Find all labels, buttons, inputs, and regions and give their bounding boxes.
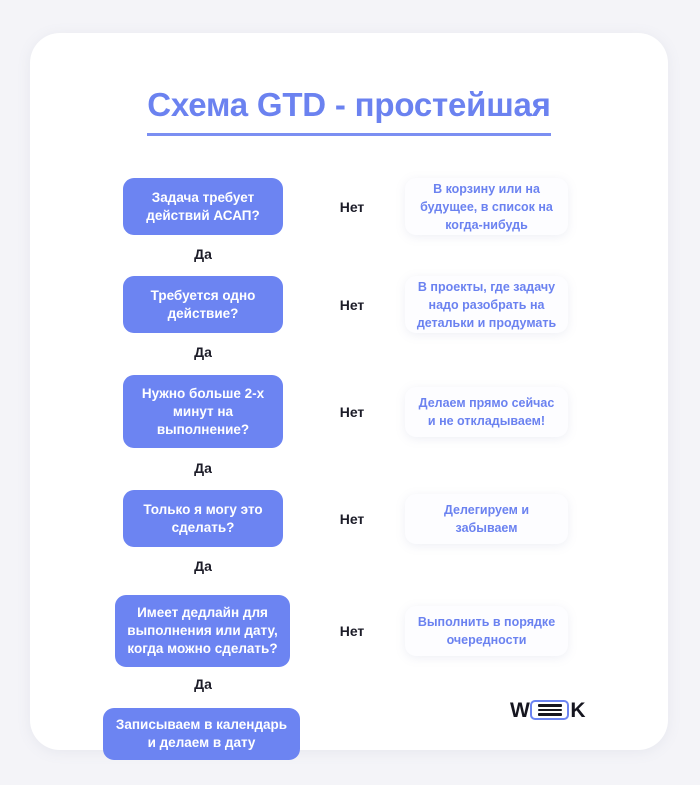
logo-letter-k: K bbox=[570, 700, 585, 721]
final-node[interactable]: Записываем в календарь и делаем в дату bbox=[103, 708, 300, 760]
outcome-node-1[interactable]: В корзину или на будущее, в список на ко… bbox=[405, 178, 568, 235]
decision-node-4[interactable]: Только я могу это сделать? bbox=[123, 490, 283, 547]
decision-node-5[interactable]: Имеет дедлайн для выполнения или дату, к… bbox=[115, 595, 290, 667]
decision-node-1[interactable]: Задача требует действий АСАП? bbox=[123, 178, 283, 235]
title-container: Схема GTD - простейшая bbox=[30, 63, 668, 158]
edge-label-no-4: Нет bbox=[322, 511, 382, 527]
edge-label-no-2: Нет bbox=[322, 297, 382, 313]
outcome-node-5[interactable]: Выполнить в порядке очередности bbox=[405, 606, 568, 656]
edge-label-no-1: Нет bbox=[322, 199, 382, 215]
page-title: Схема GTD - простейшая bbox=[147, 85, 550, 136]
decision-node-3[interactable]: Нужно больше 2-х минут на выполнение? bbox=[123, 375, 283, 448]
edge-label-yes-4: Да bbox=[173, 558, 233, 574]
edge-label-yes-5: Да bbox=[173, 676, 233, 692]
edge-label-no-5: Нет bbox=[322, 623, 382, 639]
weeek-bars-mark-icon bbox=[530, 700, 569, 720]
decision-node-2[interactable]: Требуется одно действие? bbox=[123, 276, 283, 333]
edge-label-yes-1: Да bbox=[173, 246, 233, 262]
logo-bar-bottom bbox=[538, 713, 562, 716]
edge-label-yes-3: Да bbox=[173, 460, 233, 476]
logo-bar-middle bbox=[538, 709, 562, 712]
outcome-node-2[interactable]: В проекты, где задачу надо разобрать на … bbox=[405, 276, 568, 333]
outcome-node-3[interactable]: Делаем прямо сейчас и не откладываем! bbox=[405, 387, 568, 437]
outcome-node-4[interactable]: Делегируем и забываем bbox=[405, 494, 568, 544]
weeek-logo: W K bbox=[510, 697, 585, 723]
infographic-card: Схема GTD - простейшая Задача требует де… bbox=[30, 33, 668, 750]
logo-letter-w: W bbox=[510, 700, 529, 721]
edge-label-no-3: Нет bbox=[322, 404, 382, 420]
logo-bar-top bbox=[538, 704, 562, 707]
edge-label-yes-2: Да bbox=[173, 344, 233, 360]
